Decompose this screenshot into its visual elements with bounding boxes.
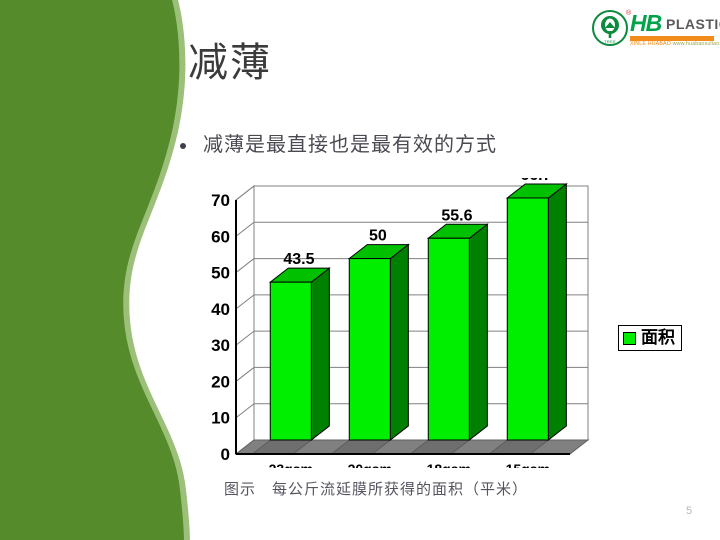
y-axis-tick-label: 70 [211, 191, 230, 210]
chart-svg: 01020304050607043.523gsm5020gsm55.618gsm… [206, 178, 606, 468]
company-logo: TREE ® HB PLASTIC XINLE HUABAO www.huaba… [592, 8, 714, 54]
y-axis-tick-label: 10 [211, 409, 230, 428]
bullet-item-label: 减薄是最直接也是最有效的方式 [203, 132, 497, 158]
page-title: 减薄 [188, 40, 272, 86]
y-axis-tick-label: 50 [211, 264, 230, 283]
tree-in-circle-icon: TREE [592, 10, 628, 46]
logo-wordmark: HB [630, 12, 661, 35]
bullet-item: 减薄是最直接也是最有效的方式 [180, 132, 497, 158]
chart-caption: 图示 每公斤流延膜所获得的面积（平米） [224, 478, 528, 499]
legend-swatch-area [623, 332, 636, 345]
bar-value-label: 66.7 [520, 178, 551, 184]
page-number: 5 [686, 505, 692, 517]
bar-value-label: 50 [369, 228, 387, 245]
legend-label-area: 面积 [641, 329, 675, 347]
bar-chart: 01020304050607043.523gsm5020gsm55.618gsm… [206, 178, 606, 468]
logo-wordmark-suffix: PLASTIC [666, 17, 720, 32]
y-axis-tick-label: 0 [221, 445, 230, 464]
x-axis-tick-label: 15gsm [506, 461, 550, 468]
x-axis-tick-label: 18gsm [427, 461, 471, 468]
y-axis-tick-label: 30 [211, 336, 230, 355]
chart-legend: 面积 [618, 325, 682, 351]
y-axis-tick-label: 60 [211, 227, 230, 246]
bar-value-label: 43.5 [283, 251, 314, 268]
logo-tagline-url: www.huabaosuliao.com [673, 41, 720, 47]
logo-mark-sub: TREE [594, 39, 626, 44]
x-axis-tick-label: 23gsm [269, 461, 313, 468]
y-axis-tick-label: 20 [211, 372, 230, 391]
x-axis-tick-label: 20gsm [348, 461, 392, 468]
bullet-dot-icon [180, 143, 186, 149]
bar-value-label: 55.6 [441, 207, 472, 224]
slide-canvas: TREE ® HB PLASTIC XINLE HUABAO www.huaba… [0, 0, 720, 540]
logo-tagline: XINLE HUABAO www.huabaosuliao.com [630, 41, 720, 48]
logo-tagline-company: XINLE HUABAO [630, 41, 671, 47]
y-axis-tick-label: 40 [211, 300, 230, 319]
